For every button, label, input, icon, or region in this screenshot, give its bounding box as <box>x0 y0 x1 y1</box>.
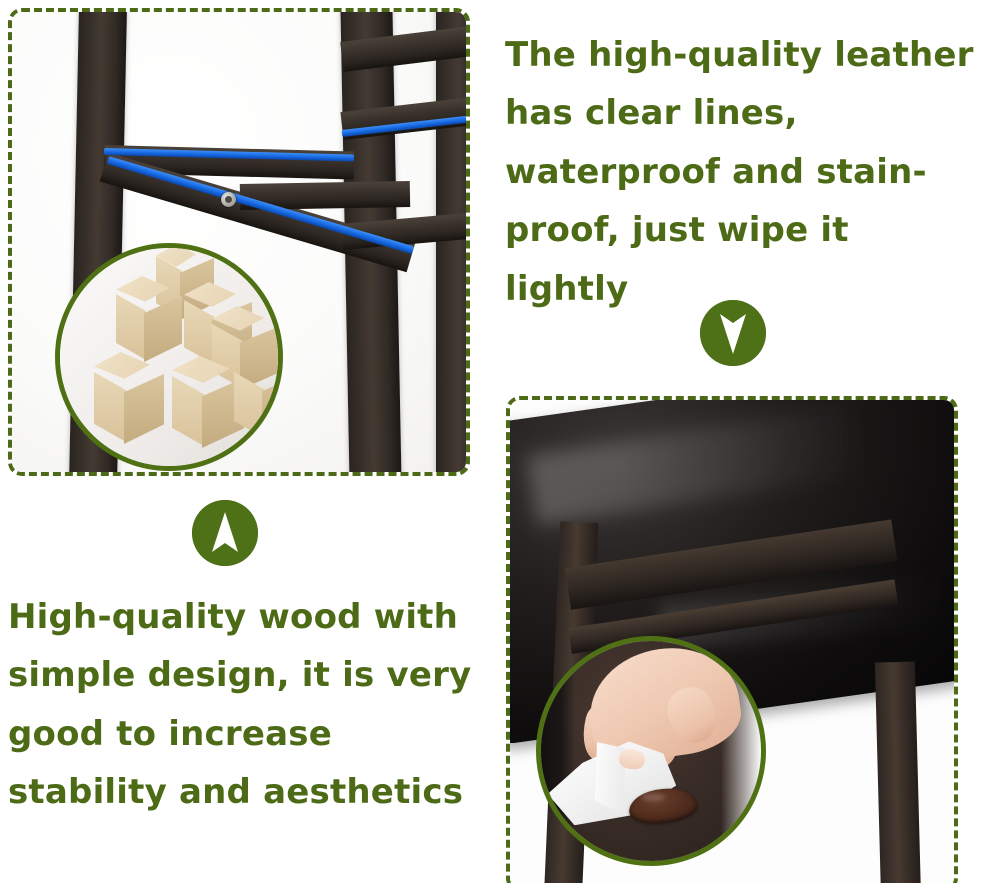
wood-cube <box>94 352 174 452</box>
leather-caption: The high-quality leather has clear lines… <box>505 26 975 318</box>
arrow-up-badge-icon <box>192 500 258 566</box>
wood-caption: High-quality wood with simple design, it… <box>8 588 488 822</box>
wipe-stain-inset <box>536 636 766 866</box>
wood-blocks-inset <box>55 243 283 471</box>
liquid-spill-gloss <box>641 793 665 801</box>
wood-cube <box>234 364 283 458</box>
screw-head-icon <box>221 192 236 207</box>
chair-leg-far <box>436 12 466 472</box>
infographic-canvas: The high-quality leather has clear lines… <box>0 0 985 883</box>
seat-leg-right <box>875 662 921 883</box>
wipe-inset-dark-edge <box>541 641 575 861</box>
